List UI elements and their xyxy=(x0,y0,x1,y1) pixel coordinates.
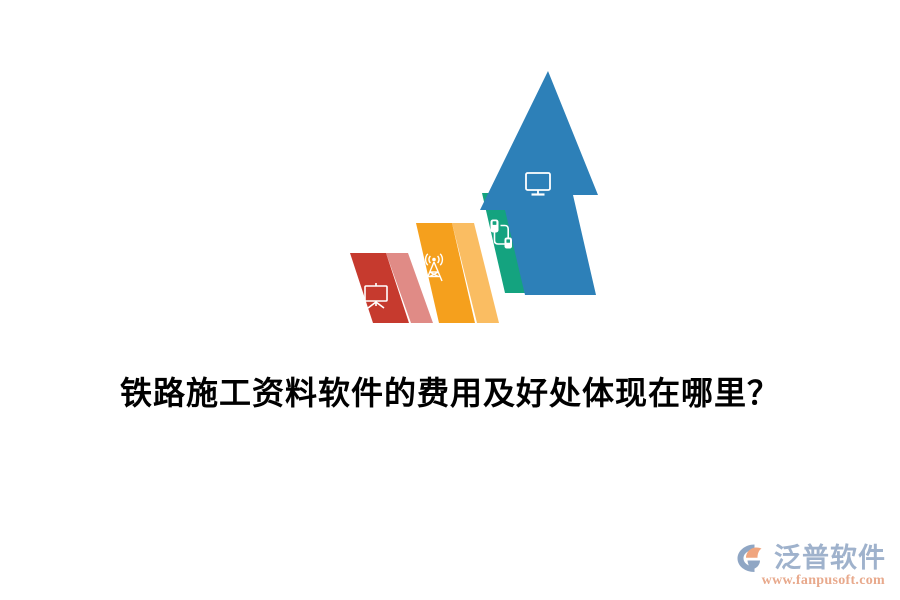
brand-watermark: 泛普软件 www.fanpusoft.com xyxy=(736,543,886,588)
brand-name: 泛普软件 xyxy=(774,545,886,572)
rising-stepped-arrow-illustration xyxy=(330,55,630,385)
segment-4-arrow-body xyxy=(480,71,598,295)
brand-url: www.fanpusoft.com xyxy=(762,574,885,588)
segment-4-blue-arrow xyxy=(480,71,598,295)
page-title: 铁路施工资料软件的费用及好处体现在哪里？ xyxy=(0,373,900,413)
page-root: 铁路施工资料软件的费用及好处体现在哪里？ 泛普软件 www.fanpusoft.… xyxy=(0,0,900,600)
fanpu-c-swoosh-logo-icon xyxy=(736,543,770,573)
segment-1-red xyxy=(350,253,433,323)
brand-logo-row: 泛普软件 xyxy=(736,543,886,573)
segment-2-orange xyxy=(416,223,499,323)
arrow-illustration-svg xyxy=(330,55,630,385)
